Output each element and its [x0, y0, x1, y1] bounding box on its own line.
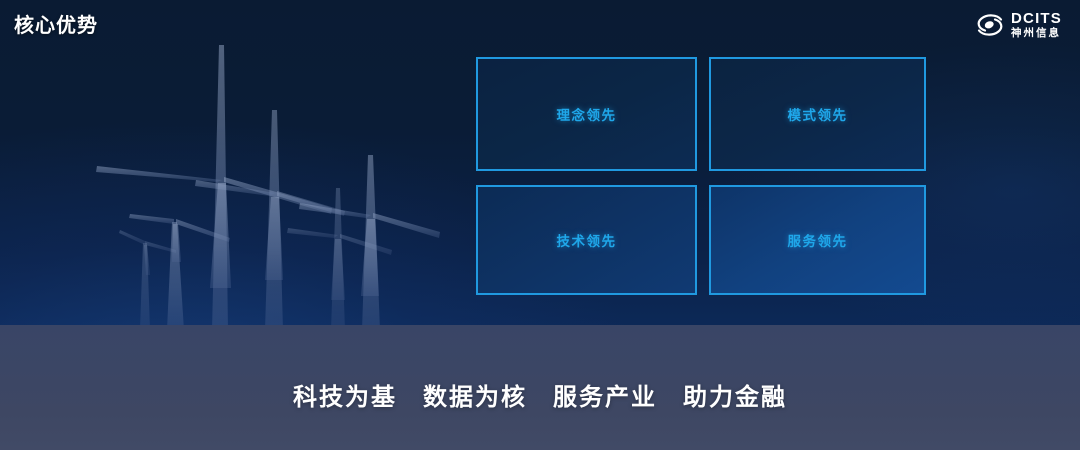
advantage-card-service[interactable]: 服务领先: [709, 185, 926, 295]
advantage-card-label: 服务领先: [788, 230, 848, 250]
advantage-card-tech[interactable]: 技术领先: [476, 185, 697, 295]
footer-tagline: 科技为基 数据为核 服务产业 助力金融: [293, 377, 787, 412]
logo-en-text: DCITS: [1011, 11, 1062, 26]
logo-text: DCITS 神州信息: [1011, 11, 1062, 39]
dcits-swoosh-logo-icon: [975, 12, 1005, 38]
page-title: 核心优势: [14, 9, 98, 38]
footer-band: 科技为基 数据为核 服务产业 助力金融: [0, 325, 1080, 450]
advantage-card-concept[interactable]: 理念领先: [476, 57, 697, 171]
logo-cn-text: 神州信息: [1011, 28, 1062, 39]
brand-logo: DCITS 神州信息: [975, 8, 1062, 42]
advantage-card-label: 模式领先: [788, 104, 848, 124]
advantage-card-label: 技术领先: [557, 230, 617, 250]
advantage-card-grid: 理念领先 模式领先 技术领先 服务领先: [476, 57, 926, 295]
slide-root: 核心优势 DCITS 神州信息 理念领先 模式领先 技术领先 服务领先: [0, 0, 1080, 450]
advantage-card-model[interactable]: 模式领先: [709, 57, 926, 171]
advantage-card-label: 理念领先: [557, 104, 617, 124]
